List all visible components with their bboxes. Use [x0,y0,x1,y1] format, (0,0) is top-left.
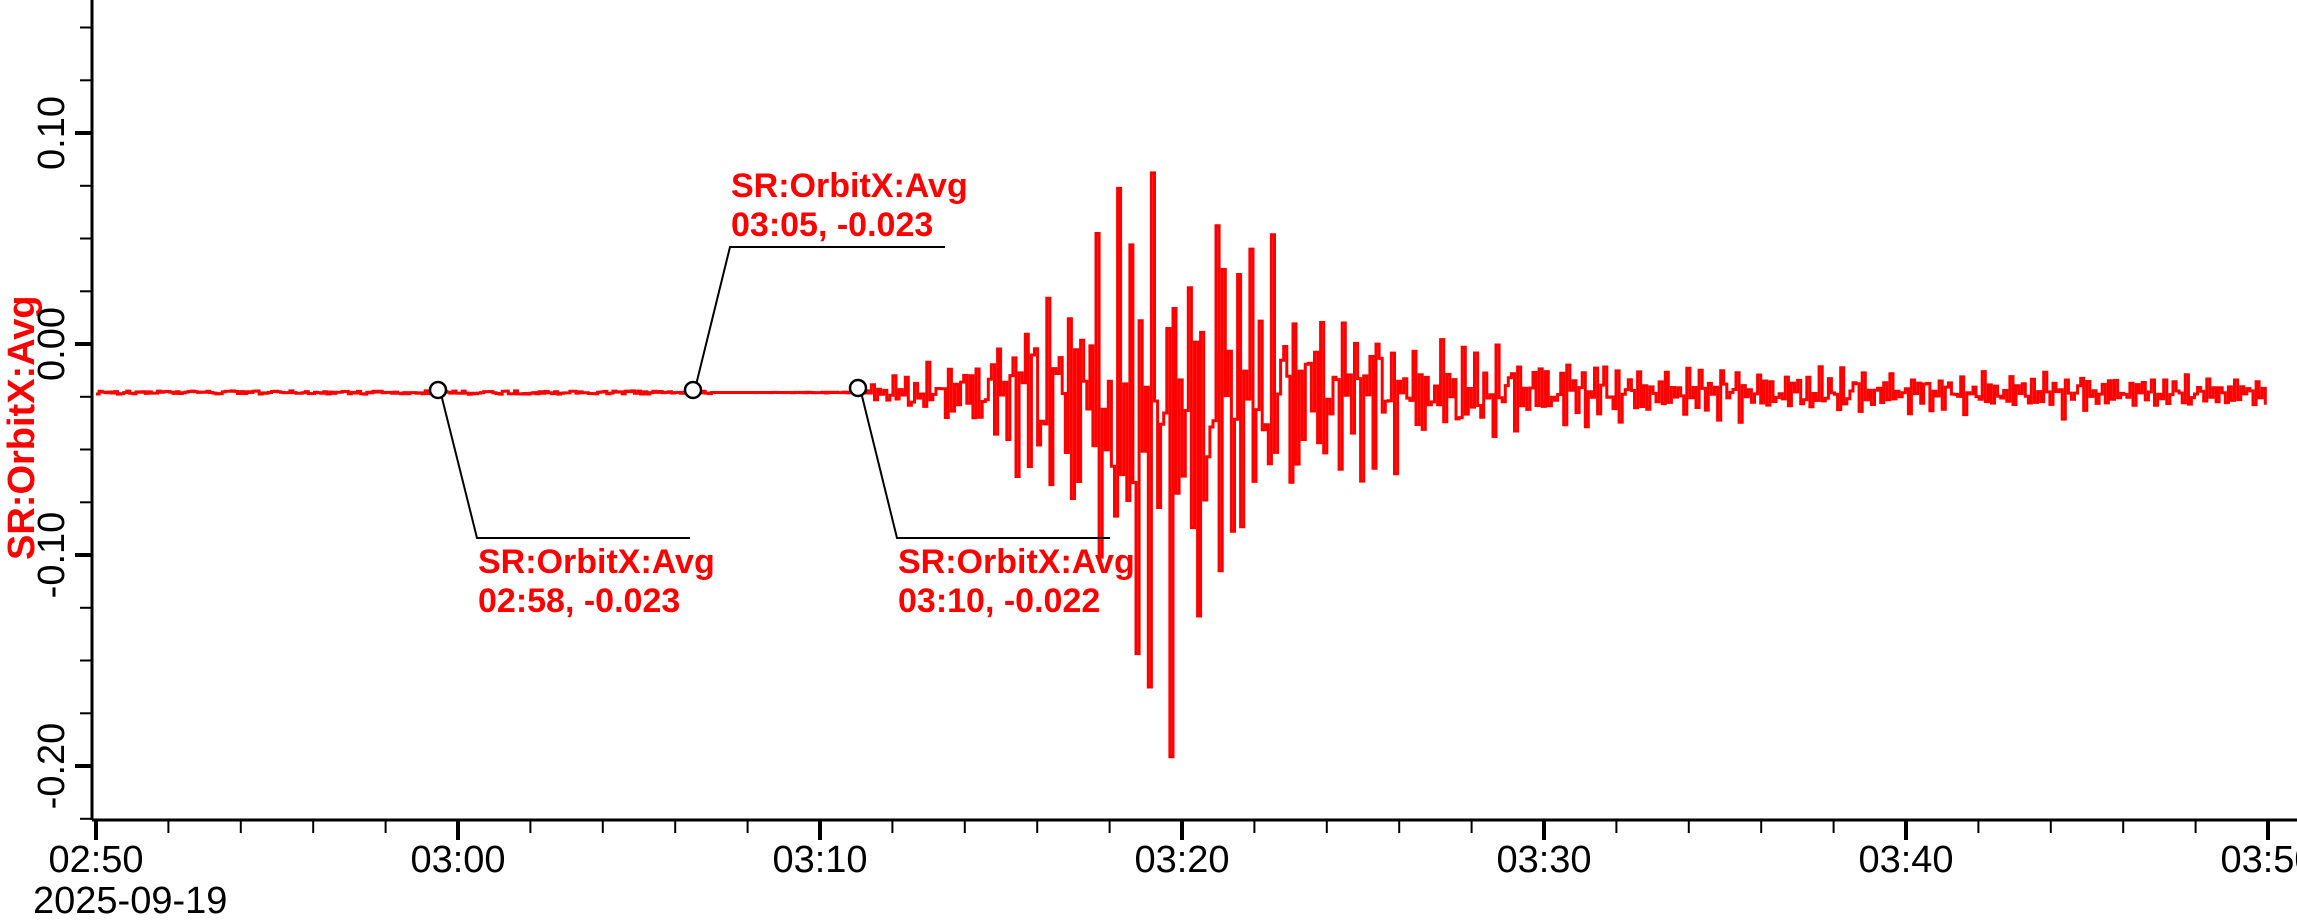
annotation-value: 03:05, -0.023 [731,206,933,244]
x-tick-label: 03:40 [1858,839,1953,881]
chart-container: SR:OrbitX:Avg 0.10 0.00 -0.10 -0.20 02:5… [0,0,2297,922]
y-tick-label: 0.10 [31,96,73,170]
annotation-label: SR:OrbitX:Avg [478,543,715,581]
x-tick-label: 03:30 [1496,839,1591,881]
annotation-label: SR:OrbitX:Avg [731,167,968,205]
x-tick-label: 03:50 [2220,839,2297,881]
x-tick-labels: 02:5003:0003:1003:2003:3003:4003:50 [48,839,2297,881]
data-point-marker[interactable] [850,380,866,396]
y-minor-ticks [80,28,92,819]
leader-line [696,247,945,385]
annotation-value: 02:58, -0.023 [478,582,680,620]
x-tick-label: 03:00 [410,839,505,881]
x-tick-label: 03:10 [772,839,867,881]
x-axis-date-label: 2025-09-19 [33,880,227,922]
annotation-0258[interactable]: SR:OrbitX:Avg 02:58, -0.023 [430,382,715,620]
annotation-label: SR:OrbitX:Avg [898,543,1135,581]
x-tick-label: 02:50 [48,839,143,881]
x-tick-label: 03:20 [1134,839,1229,881]
annotation-value: 03:10, -0.022 [898,582,1100,620]
signal-trace [96,173,2265,757]
y-tick-label: 0.00 [31,307,73,381]
waveform-plot: SR:OrbitX:Avg 0.10 0.00 -0.10 -0.20 02:5… [0,0,2297,922]
y-tick-label: -0.20 [31,723,73,810]
data-point-marker[interactable] [430,382,446,398]
y-tick-label: -0.10 [31,512,73,599]
leader-line [441,394,690,538]
data-point-marker[interactable] [685,382,701,398]
x-major-ticks [96,820,2268,840]
